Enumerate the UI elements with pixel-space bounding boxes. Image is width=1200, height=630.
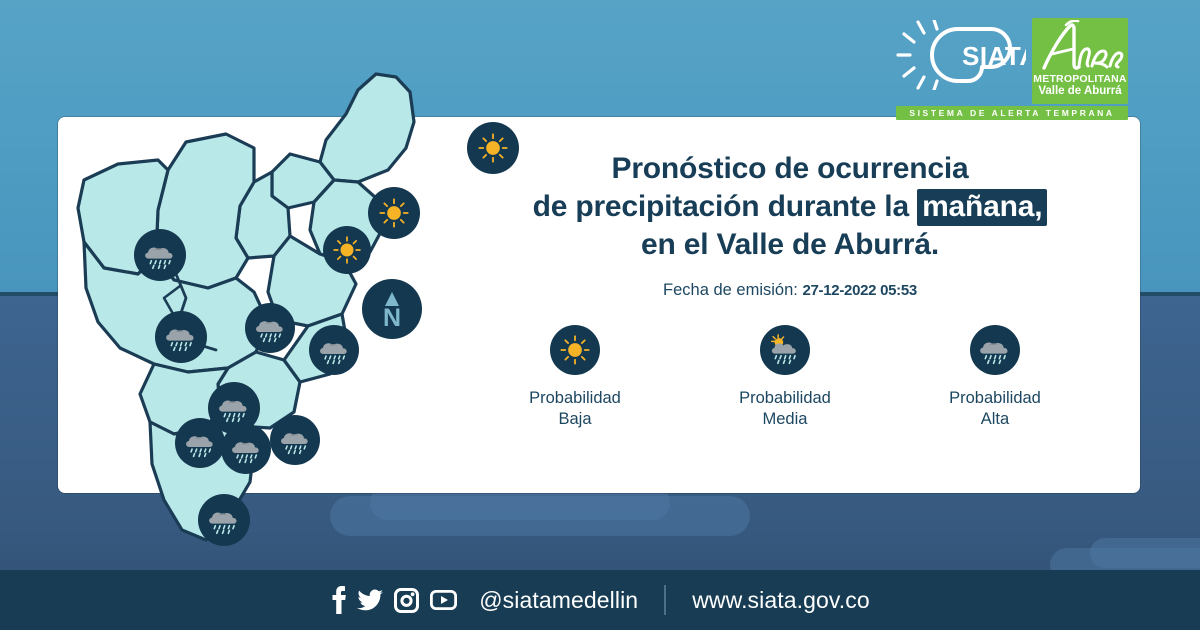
legend-item-alta: Probabilidad Alta — [890, 325, 1100, 430]
map-marker-sun — [368, 187, 420, 239]
siata-logo: SIATA — [896, 20, 1026, 90]
compass-label: N — [383, 304, 401, 332]
headline-highlight: mañana, — [917, 189, 1047, 226]
twitter-icon[interactable] — [357, 587, 383, 613]
page-title: Pronóstico de ocurrencia de precipitació… — [460, 150, 1120, 263]
issue-date: Fecha de emisión: 27-12-2022 05:53 — [460, 281, 1120, 300]
legend-item-baja: Probabilidad Baja — [470, 325, 680, 430]
facebook-icon[interactable] — [330, 586, 346, 614]
headline-line-2-pre: de precipitación durante la — [533, 190, 918, 223]
tagline-banner: SISTEMA DE ALERTA TEMPRANA — [896, 106, 1128, 120]
youtube-icon[interactable] — [430, 590, 457, 610]
map-marker-rain-cloud — [175, 418, 225, 468]
map-marker-rain-cloud — [245, 303, 295, 353]
headline-line-1: Pronóstico de ocurrencia — [460, 150, 1120, 188]
svg-text:SIATA: SIATA — [962, 41, 1026, 71]
issue-date-value: 27-12-2022 05:53 — [802, 282, 916, 299]
legend-item-media: Probabilidad Media — [680, 325, 890, 430]
sun-icon — [550, 325, 600, 375]
logo-group: SIATA METROPOLITANA Valle de Aburrá — [896, 18, 1128, 112]
map-marker-rain-cloud — [309, 325, 359, 375]
probability-legend: Probabilidad Baja Probabilidad Media — [470, 325, 1100, 430]
map-marker-rain-cloud — [155, 311, 207, 363]
website-url[interactable]: www.siata.gov.co — [692, 587, 870, 614]
compass-rose: N — [362, 279, 422, 339]
headline-block: Pronóstico de ocurrencia de precipitació… — [460, 150, 1120, 300]
area-metropolitana-logo: METROPOLITANA Valle de Aburrá — [1032, 18, 1128, 104]
map-marker-sun — [323, 226, 371, 274]
rain-cloud-icon — [970, 325, 1020, 375]
issue-date-label: Fecha de emisión: — [663, 281, 798, 299]
area-logo-line1: METROPOLITANA — [1032, 74, 1128, 85]
footer-divider — [664, 585, 666, 615]
map-marker-rain-cloud — [198, 494, 250, 546]
headline-line-2: de precipitación durante la mañana, — [460, 188, 1120, 226]
social-links — [330, 586, 457, 614]
sun-rain-cloud-icon — [760, 325, 810, 375]
map-marker-rain-cloud — [134, 229, 186, 281]
area-logo-line2: Valle de Aburrá — [1032, 86, 1128, 98]
instagram-icon[interactable] — [394, 588, 419, 613]
map-marker-rain-cloud — [270, 415, 320, 465]
legend-label: Probabilidad Media — [739, 388, 831, 430]
infographic-stage: SIATA METROPOLITANA Valle de Aburrá — [0, 0, 1200, 630]
map-marker-rain-cloud — [221, 424, 271, 474]
legend-label: Probabilidad Alta — [949, 388, 1041, 430]
area-script-icon — [1032, 20, 1128, 74]
decorative-cloud-icon — [1090, 538, 1200, 568]
headline-line-3: en el Valle de Aburrá. — [460, 226, 1120, 264]
social-handle[interactable]: @siatamedellin — [479, 587, 638, 614]
legend-label: Probabilidad Baja — [529, 388, 621, 430]
footer-bar: @siatamedellin www.siata.gov.co — [0, 570, 1200, 630]
aburra-valley-map: N — [58, 30, 418, 590]
